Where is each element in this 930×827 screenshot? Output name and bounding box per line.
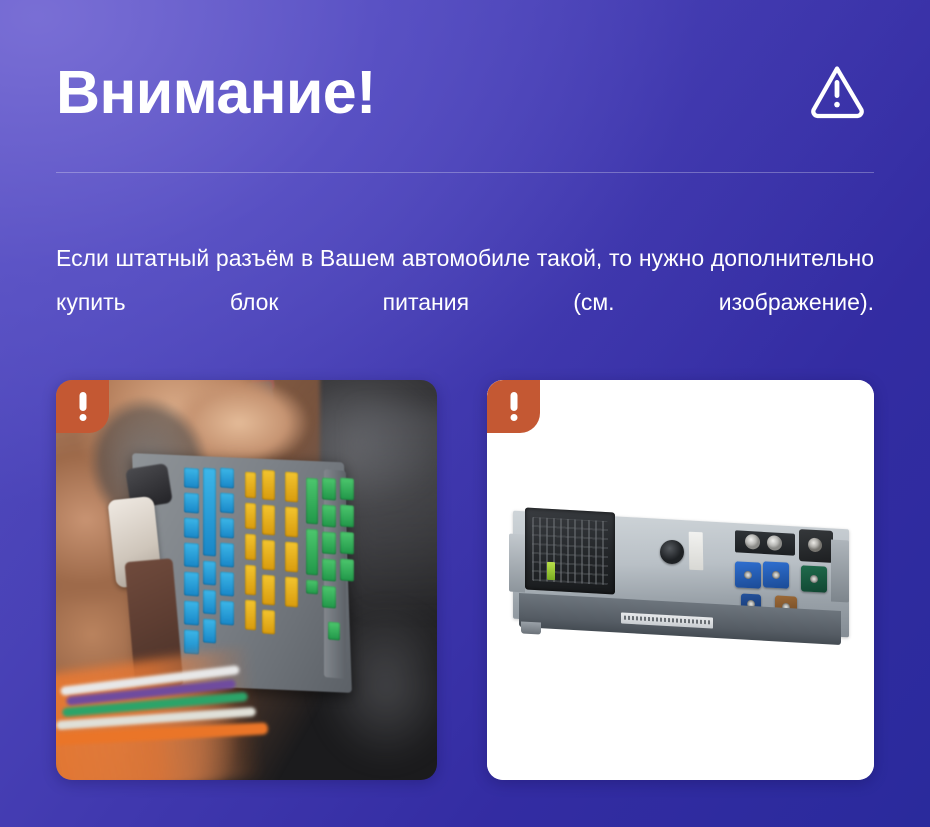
exclamation-stem <box>79 392 86 411</box>
exclamation-icon <box>56 380 109 433</box>
body-text: Если штатный разъём в Вашем автомобиле т… <box>56 236 874 368</box>
card-power-supply-photo[interactable] <box>487 380 874 780</box>
header-divider <box>56 172 874 173</box>
page-title: Внимание! <box>56 62 376 123</box>
exclamation-dot <box>510 414 517 421</box>
power-supply-photo <box>487 380 874 780</box>
exclamation-icon <box>487 380 540 433</box>
card-connector-photo[interactable] <box>56 380 437 780</box>
exclamation-stem <box>510 392 517 411</box>
image-cards <box>56 380 874 780</box>
warning-banner: Внимание! Если штатный разъём в Вашем ав… <box>0 0 930 827</box>
header: Внимание! <box>56 42 874 142</box>
exclamation-dot <box>79 414 86 421</box>
body-paragraph: Если штатный разъём в Вашем автомобиле т… <box>56 236 874 368</box>
warning-triangle-icon <box>806 61 868 123</box>
connector-photo <box>56 380 437 780</box>
